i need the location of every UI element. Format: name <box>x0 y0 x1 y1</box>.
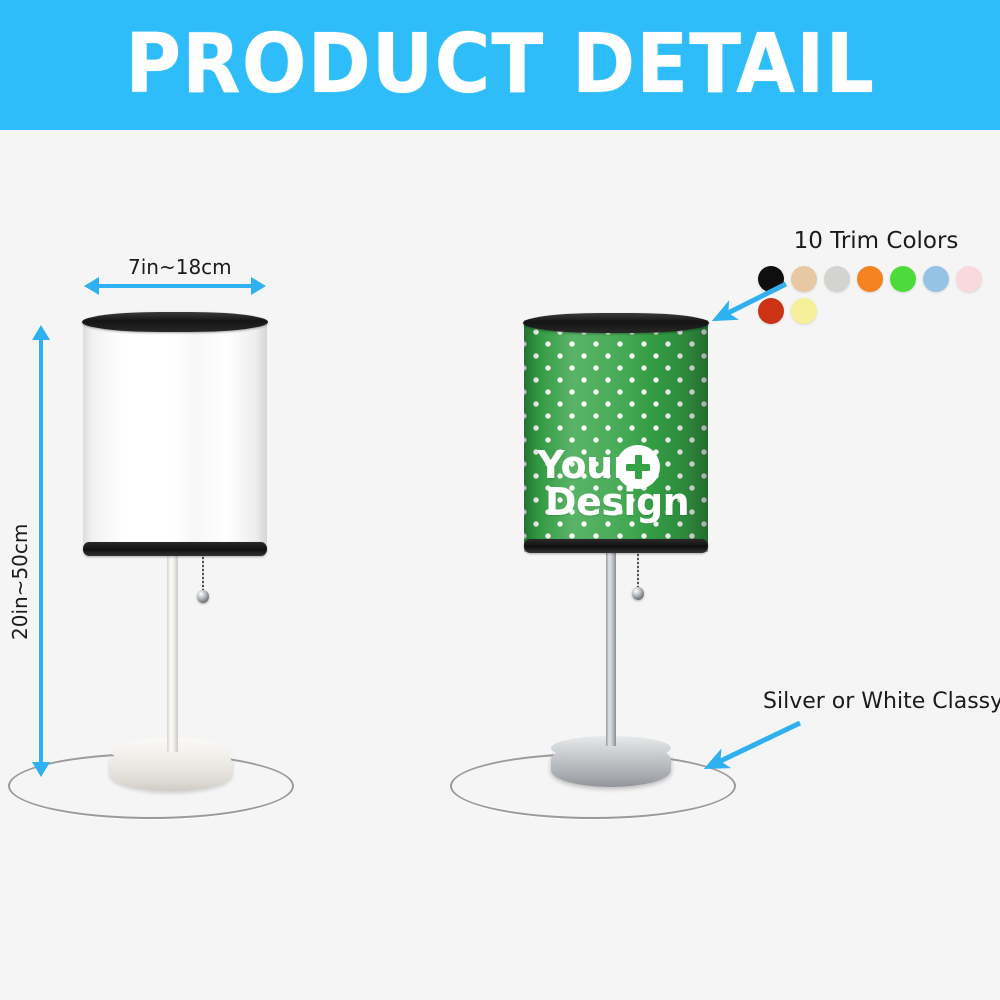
page-title: PRODUCT DETAIL <box>125 24 875 106</box>
width-dimension-arrow <box>98 284 252 288</box>
white-lamp-shade <box>83 318 267 556</box>
trim-swatch-orange[interactable] <box>857 266 883 292</box>
base-finish-callout-arrow <box>692 716 812 786</box>
green-lamp-chain-bead <box>632 587 644 600</box>
white-lamp-trim-top <box>82 312 268 332</box>
width-dimension-label: 7in~18cm <box>128 255 232 279</box>
trim-swatch-pink[interactable] <box>956 266 982 292</box>
green-lamp-artwork: Your Design <box>537 447 689 521</box>
trim-colors-heading: 10 Trim Colors <box>758 228 994 254</box>
artwork-line-1: Your <box>537 447 689 484</box>
plus-icon <box>616 445 660 489</box>
green-lamp-trim-bottom <box>524 539 708 553</box>
white-lamp-pole <box>167 556 178 752</box>
white-lamp-pull-chain <box>202 553 204 595</box>
height-dimension-arrow <box>39 339 43 763</box>
white-lamp-trim-bottom <box>83 542 267 556</box>
artwork-line-2: Design <box>545 484 689 521</box>
green-lamp-pull-chain <box>637 550 639 592</box>
product-detail-page: PRODUCT DETAIL <box>0 0 1000 1000</box>
arrow-head-left-icon <box>84 277 99 295</box>
green-lamp-trim-top <box>523 313 709 333</box>
arrow-head-down-icon <box>32 762 50 777</box>
trim-swatch-blue[interactable] <box>923 266 949 292</box>
trim-colors-callout-arrow <box>700 278 800 328</box>
white-lamp-shade-surface <box>83 318 267 556</box>
header-banner: PRODUCT DETAIL <box>0 0 1000 130</box>
height-dimension-label: 20in~50cm <box>8 524 32 640</box>
white-lamp-chain-bead <box>197 590 209 603</box>
green-lamp-pole <box>606 552 616 746</box>
trim-swatch-silver[interactable] <box>824 266 850 292</box>
arrow-head-right-icon <box>251 277 266 295</box>
trim-swatch-green[interactable] <box>890 266 916 292</box>
base-finish-callout-label: Silver or White Classy <box>763 689 1000 714</box>
arrow-head-up-icon <box>32 325 50 340</box>
